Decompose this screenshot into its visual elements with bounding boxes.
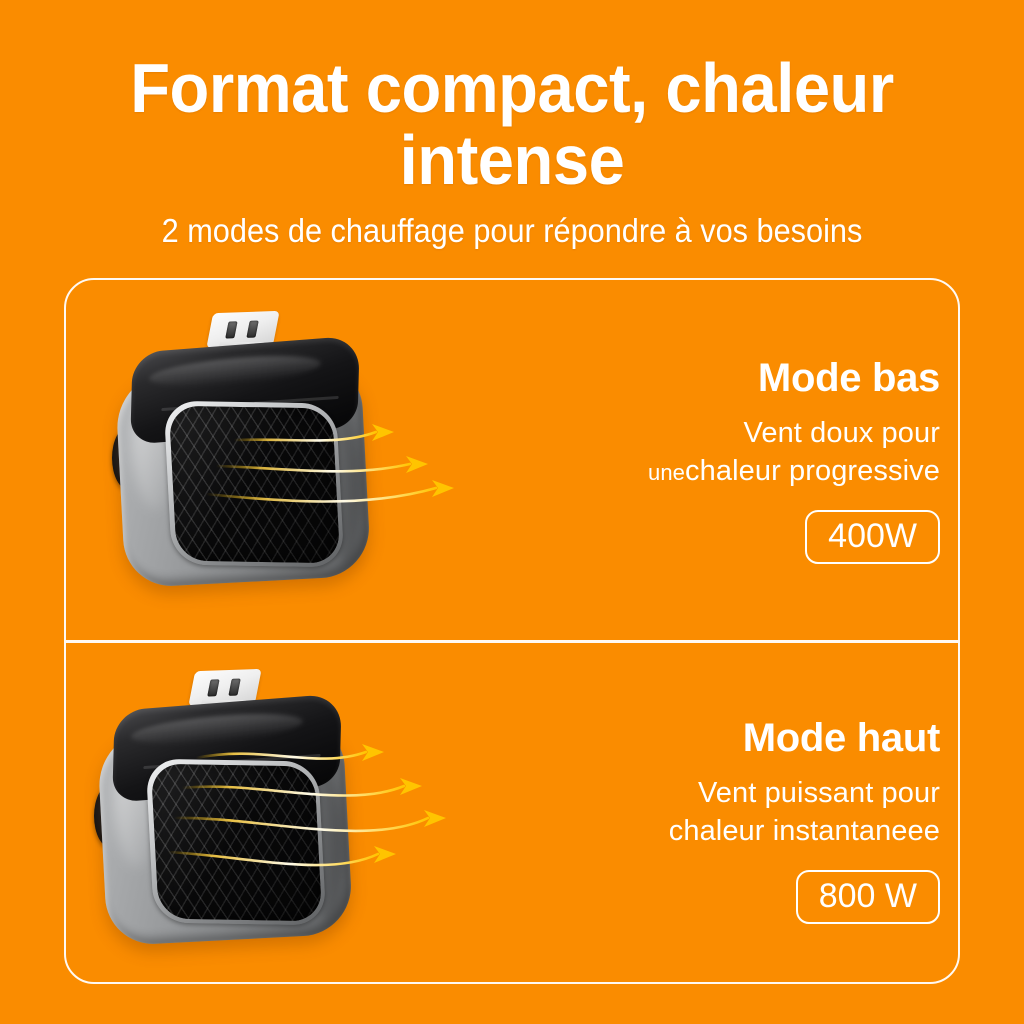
page-subtitle: 2 modes de chauffage pour répondre à vos… [36, 212, 988, 250]
device-column-high [66, 640, 536, 1000]
grille [150, 763, 321, 921]
mode-row-high: Mode haut Vent puissant pour chaleur ins… [66, 640, 962, 1000]
airflow-arrowhead-3 [432, 480, 454, 497]
infographic-stage: Format compact, chaleur intense 2 modes … [0, 0, 1024, 1024]
text-column-low: Mode bas Vent doux pour unechaleur progr… [536, 280, 962, 640]
page-title-line-2: intense [36, 124, 988, 196]
plug-prong-right [228, 679, 240, 696]
airflow-arrowhead-2 [400, 778, 422, 795]
page-title: Format compact, chaleur intense [36, 0, 988, 196]
mode-desc-line-1-low: Vent doux pour [648, 415, 940, 452]
mode-title-low: Mode bas [758, 356, 940, 401]
mode-description-low: Vent doux pour unechaleur progressive [648, 415, 940, 489]
device-column-low [66, 280, 536, 640]
airflow-arrowhead-3 [424, 810, 446, 827]
power-badge-high: 800 W [796, 870, 940, 924]
grille-shading [168, 405, 339, 563]
text-column-high: Mode haut Vent puissant pour chaleur ins… [536, 640, 962, 1000]
mode-desc-line-1-high: Vent puissant pour [669, 775, 940, 812]
grille-shading [150, 763, 321, 921]
mode-desc-line-2-high: chaleur instantaneee [669, 813, 940, 850]
mode-desc-lead-low: une [648, 460, 685, 485]
grille-bezel [146, 759, 327, 926]
mode-row-low: Mode bas Vent doux pour unechaleur progr… [66, 280, 962, 640]
plug-prong-left [207, 679, 219, 696]
grille-bezel [164, 401, 345, 568]
page-title-line-1: Format compact, chaleur [36, 52, 988, 124]
header: Format compact, chaleur intense 2 modes … [0, 0, 1024, 250]
power-badge-low: 400W [805, 510, 940, 564]
plug-prong-left [225, 321, 237, 338]
heater-device-low [106, 306, 406, 606]
heater-device-high [88, 664, 388, 964]
mode-desc-tail-low: chaleur progressive [685, 455, 940, 487]
mode-description-high: Vent puissant pour chaleur instantaneee [669, 775, 940, 849]
airflow-arrowhead-2 [406, 456, 428, 473]
modes-card: Mode bas Vent doux pour unechaleur progr… [64, 278, 960, 984]
grille [168, 405, 339, 563]
mode-desc-line-2-low: unechaleur progressive [648, 453, 940, 490]
plug-prong-right [246, 321, 258, 338]
mode-title-high: Mode haut [743, 716, 940, 761]
